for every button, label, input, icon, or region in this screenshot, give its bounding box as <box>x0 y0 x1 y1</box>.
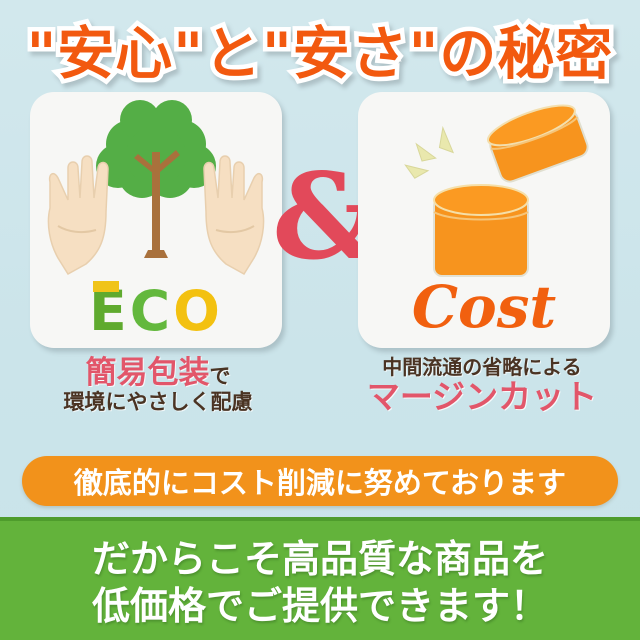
caption-eco: 簡易包装で 環境にやさしく配慮 <box>8 356 308 414</box>
footer-message: だからこそ高品質な商品を 低価格でご提供できます！ <box>0 517 640 640</box>
eco-letter-e: E <box>89 279 130 343</box>
footer-line-1: だからこそ高品質な商品を <box>92 536 548 582</box>
eco-letter-o: O <box>173 279 223 343</box>
hands-holding-tree-icon <box>30 100 282 290</box>
caption-eco-main-text: 簡易包装 <box>86 355 210 391</box>
eco-wordmark: ECO <box>30 284 282 339</box>
card-eco: ECO <box>30 92 282 348</box>
ampersand-separator: & <box>272 158 368 276</box>
cost-reduction-banner-text: 徹底的にコスト削減に努めております <box>74 460 566 502</box>
coin-stacks-cut-icon <box>358 98 610 294</box>
cost-wordmark: Cost <box>358 278 610 336</box>
promo-banner: "安心"と"安さ"の秘密 <box>0 0 640 640</box>
page-title: "安心"と"安さ"の秘密 <box>0 8 640 90</box>
caption-cost-main: マージンカット <box>332 379 632 416</box>
footer-line-2: 低価格でご提供できます！ <box>92 583 548 629</box>
card-cost: Cost <box>358 92 610 348</box>
caption-cost-top: 中間流通の省略による <box>332 356 632 378</box>
caption-cost: 中間流通の省略による マージンカット <box>332 356 632 416</box>
caption-eco-sub: 環境にやさしく配慮 <box>8 391 308 415</box>
feature-cards: ECO & <box>0 92 640 350</box>
caption-eco-suffix: で <box>210 364 231 388</box>
eco-letter-c: C <box>130 279 173 343</box>
cost-reduction-banner: 徹底的にコスト削減に努めております <box>22 456 618 506</box>
caption-eco-main: 簡易包装で <box>8 356 308 391</box>
